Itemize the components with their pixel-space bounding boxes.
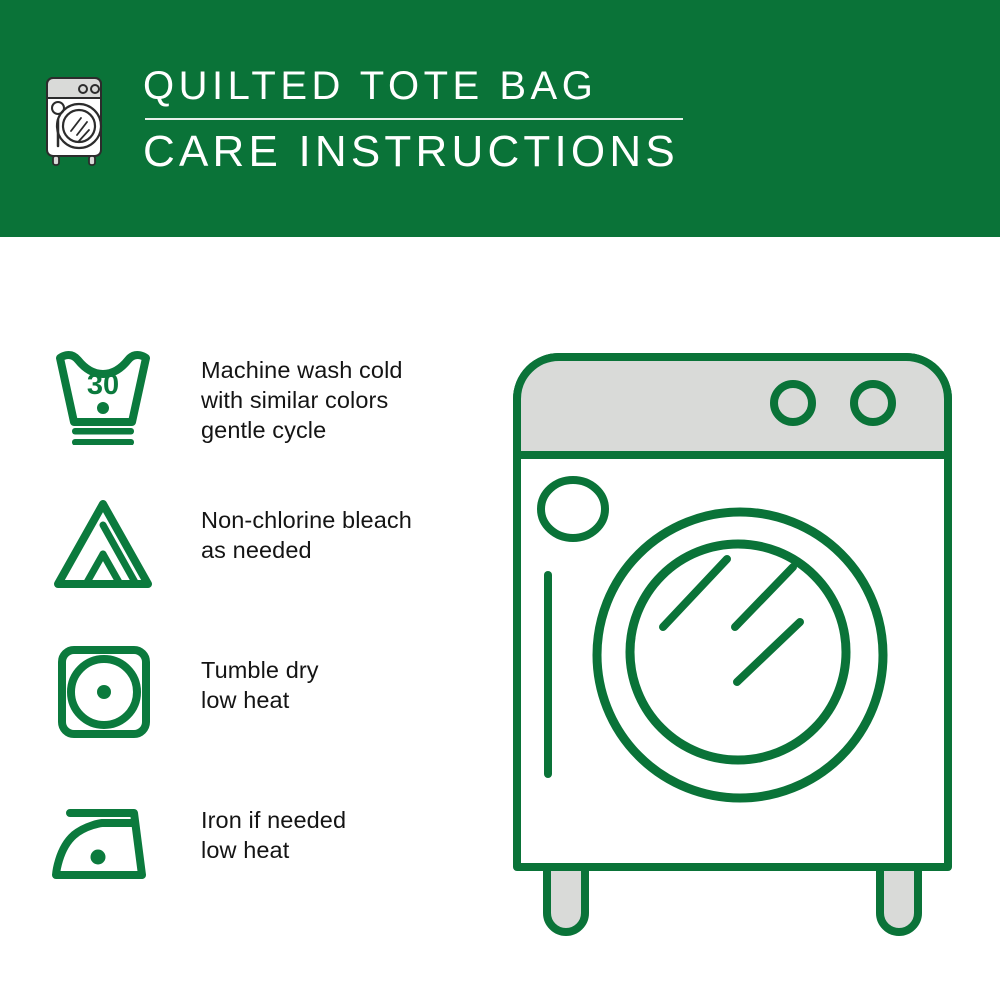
wash-tub-30-gentle-icon: 30 <box>48 337 163 447</box>
care-line: low heat <box>201 685 319 715</box>
care-line: Non-chlorine bleach <box>201 505 412 535</box>
product-title: QUILTED TOTE BAG <box>143 62 743 110</box>
care-instructions-infographic: QUILTED TOTE BAG CARE INSTRUCTIONS 30 <box>0 0 1000 1000</box>
care-line: with similar colors <box>201 385 403 415</box>
wash-temperature-value: 30 <box>87 369 119 401</box>
care-line: low heat <box>201 835 346 865</box>
tumble-dry-low-heat-icon <box>48 637 163 747</box>
care-line: as needed <box>201 535 412 565</box>
care-instruction-text: Non-chlorine bleach as needed <box>163 487 412 565</box>
foot-right <box>880 867 918 932</box>
triangle-non-chlorine-bleach-icon <box>48 487 163 597</box>
list-item: Non-chlorine bleach as needed <box>48 487 478 637</box>
foot-left <box>547 867 585 932</box>
title-divider <box>145 118 683 120</box>
care-line: Tumble dry <box>201 655 319 685</box>
care-instruction-text: Tumble dry low heat <box>163 637 319 715</box>
care-line: Iron if needed <box>201 805 346 835</box>
care-line: Machine wash cold <box>201 355 403 385</box>
care-instruction-list: 30 Machine wash cold with similar colors… <box>48 337 478 937</box>
list-item: 30 Machine wash cold with similar colors… <box>48 337 478 487</box>
iron-low-heat-icon <box>48 787 163 897</box>
content-area: 30 Machine wash cold with similar colors… <box>0 237 1000 1000</box>
control-panel <box>517 357 948 455</box>
header-title-group: QUILTED TOTE BAG CARE INSTRUCTIONS <box>143 62 743 178</box>
care-instruction-text: Iron if needed low heat <box>163 787 346 865</box>
care-instruction-text: Machine wash cold with similar colors ge… <box>163 337 403 445</box>
page-title: CARE INSTRUCTIONS <box>143 126 743 178</box>
washing-machine-icon <box>43 69 105 169</box>
header-banner: QUILTED TOTE BAG CARE INSTRUCTIONS <box>0 0 1000 237</box>
list-item: Tumble dry low heat <box>48 637 478 787</box>
list-item: Iron if needed low heat <box>48 787 478 937</box>
care-line: gentle cycle <box>201 415 403 445</box>
washing-machine-illustration <box>495 337 970 937</box>
